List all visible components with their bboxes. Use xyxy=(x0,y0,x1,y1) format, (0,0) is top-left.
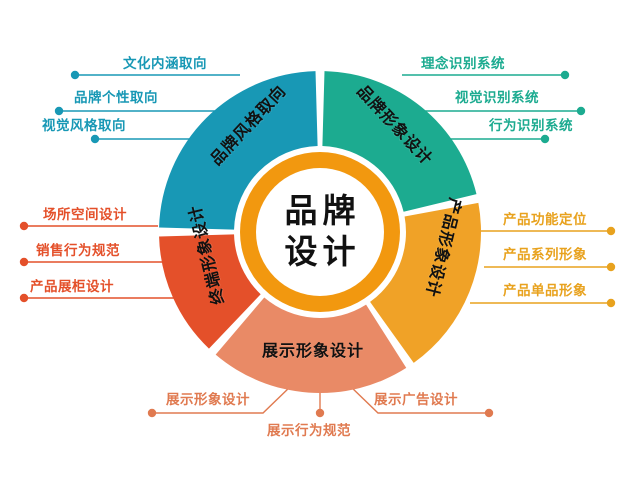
callout-label-bottom-1: 展示形象设计 xyxy=(166,393,250,407)
callout-label-left-1: 场所空间设计 xyxy=(43,208,127,222)
diagram-canvas: 品牌 设计 品牌风格取向 品牌形象设计 产品形象设计 展示形象设计 终端形象设计… xyxy=(0,0,640,488)
arc-label-display-image-design: 展示形象设计 xyxy=(262,337,364,361)
callout-label-bottom-2: 展示行为规范 xyxy=(267,424,351,438)
callout-label-right-1: 产品功能定位 xyxy=(503,213,587,227)
callout-label-right-2: 产品系列形象 xyxy=(503,248,587,262)
callout-label-top-right-1: 理念识别系统 xyxy=(421,57,505,71)
callout-label-right-3: 产品单品形象 xyxy=(503,284,587,298)
callout-label-top-left-3: 视觉风格取向 xyxy=(42,119,126,133)
callout-label-left-3: 产品展柜设计 xyxy=(30,280,114,294)
callout-label-top-left-1: 文化内涵取向 xyxy=(123,57,207,71)
callout-label-bottom-3: 展示广告设计 xyxy=(374,393,458,407)
callout-label-top-left-2: 品牌个性取向 xyxy=(74,91,158,105)
callout-label-top-right-2: 视觉识别系统 xyxy=(455,91,539,105)
center-hub[interactable] xyxy=(256,168,384,296)
callout-label-top-right-3: 行为识别系统 xyxy=(489,119,573,133)
callout-label-left-2: 销售行为规范 xyxy=(36,244,120,258)
